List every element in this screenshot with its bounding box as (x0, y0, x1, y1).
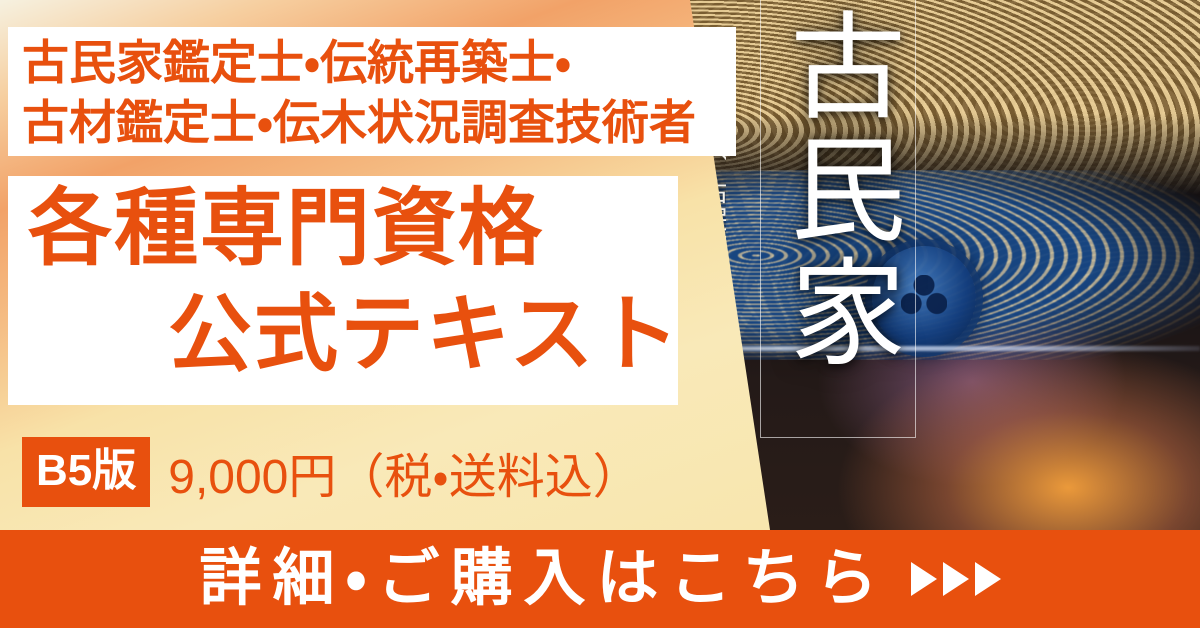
price-row: B5版 9,000円（税・送料込） (22, 437, 641, 507)
headline-line-1: 各種専門資格 (8, 176, 678, 282)
qualifications-line-2: 古材鑑定士・伝木状況調査技術者 (22, 93, 736, 153)
cta-arrow-group (911, 562, 1001, 596)
book-cover-title: 古民家 (772, 6, 902, 375)
cta-label: 詳細・ご購入はこちら (199, 548, 888, 610)
triangle-right-icon (911, 562, 937, 596)
promo-banner: 伝統構法、古民家活用のための調査と再生の 古民家 古民家鑑定士・伝統再築士・ 古… (0, 0, 1200, 628)
triangle-right-icon (943, 562, 969, 596)
price-text: 9,000円（税・送料込） (168, 437, 640, 507)
qualifications-line-1: 古民家鑑定士・伝統再築士・ (22, 33, 736, 93)
headline-box: 各種専門資格 公式テキスト (8, 176, 678, 405)
headline-line-2: 公式テキスト (8, 282, 678, 388)
cta-button-bar[interactable]: 詳細・ご購入はこちら (0, 530, 1200, 628)
size-badge: B5版 (22, 437, 150, 507)
qualifications-box: 古民家鑑定士・伝統再築士・ 古材鑑定士・伝木状況調査技術者 (8, 27, 736, 156)
triangle-right-icon (975, 562, 1001, 596)
